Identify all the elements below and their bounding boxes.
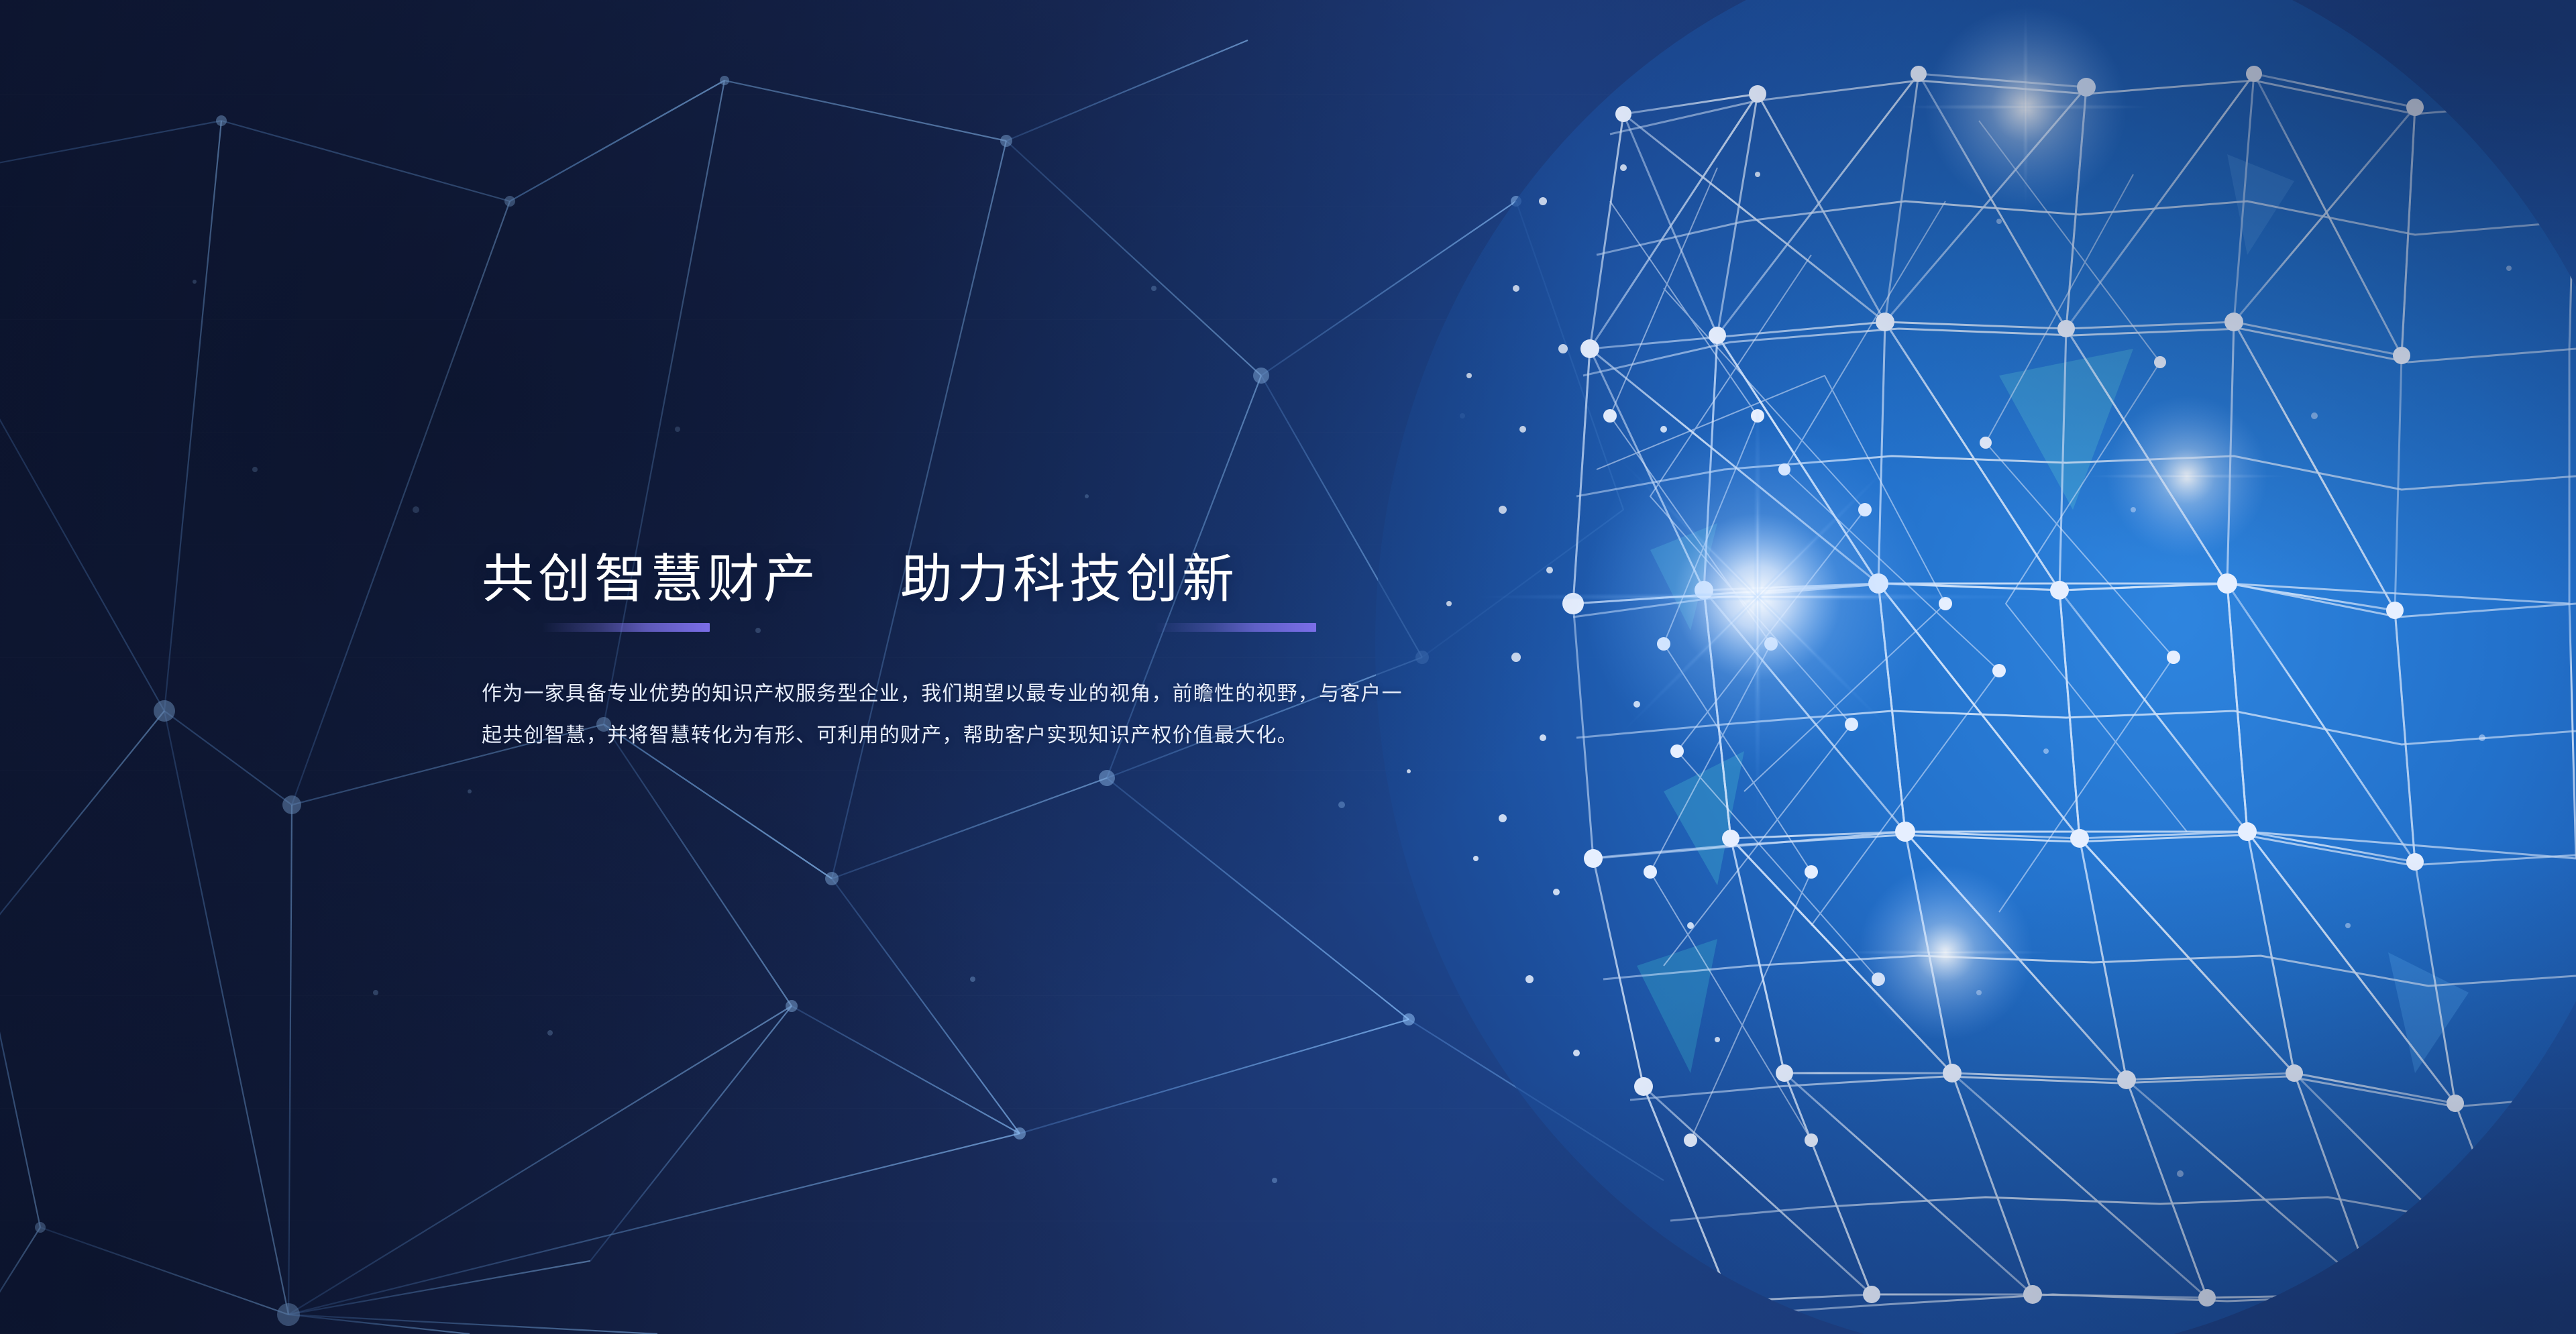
headline-accent-rule-two [1155, 623, 1316, 632]
headline-row: 共创智慧财产 助力科技创新 [482, 550, 1434, 632]
headline-segment-two: 助力科技创新 [900, 550, 1316, 632]
lens-flare-upper [1898, 7, 2153, 208]
headline-accent-rule-one [542, 623, 710, 632]
lens-flare-lower [1838, 865, 2053, 1040]
headline-text-secondary: 助力科技创新 [900, 550, 1316, 608]
hero-body-paragraph: 作为一家具备专业优势的知识产权服务型企业，我们期望以最专业的视角，前瞻性的视野，… [482, 673, 1421, 756]
lens-flare-right [2086, 396, 2288, 557]
headline-text-primary: 共创智慧财产 [482, 550, 820, 608]
hero-content: 共创智慧财产 助力科技创新 作为一家具备专业优势的知识产权服务型企业，我们期望以… [482, 550, 1434, 776]
headline-segment-one: 共创智慧财产 [482, 550, 820, 632]
lens-flare-main [1476, 322, 2039, 872]
hero-banner: 共创智慧财产 助力科技创新 作为一家具备专业优势的知识产权服务型企业，我们期望以… [0, 0, 2576, 1334]
